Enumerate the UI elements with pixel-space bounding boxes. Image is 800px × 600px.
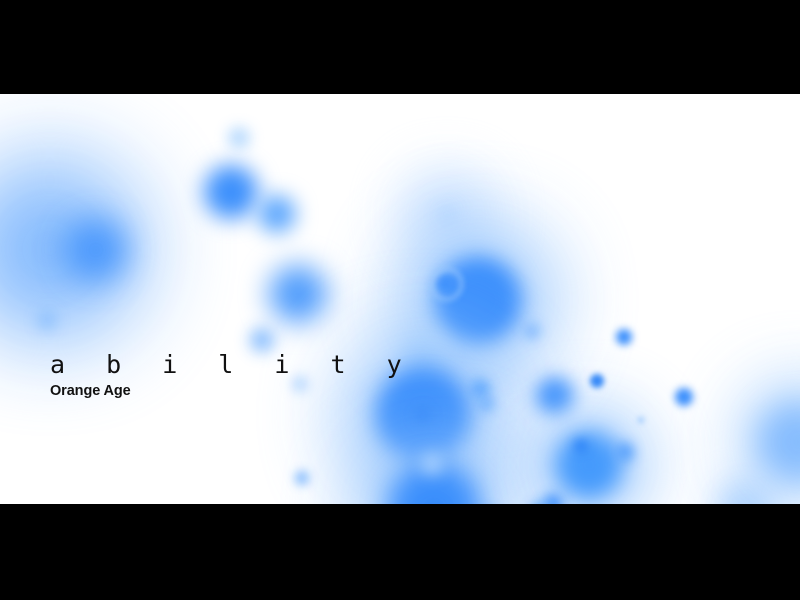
bokeh-core-right-lower <box>556 432 622 498</box>
letterbox-bar-bottom <box>0 504 800 600</box>
bokeh-circle-upper-a <box>204 165 258 219</box>
artwork-area: a b i l i t y Orange Age <box>0 94 800 504</box>
bokeh-circle-right-mid <box>536 377 574 415</box>
bokeh-dot-pair-b <box>478 396 494 412</box>
bokeh-dot-right-a <box>616 329 632 345</box>
bokeh-dot-upper-c <box>228 127 250 149</box>
video-still-canvas: a b i l i t y Orange Age <box>0 0 800 600</box>
bokeh-dot-right-b <box>590 374 604 388</box>
bokeh-circle-mid-left <box>269 265 327 323</box>
bokeh-dot-top-faint <box>439 206 455 222</box>
bokeh-dot-right-c <box>675 388 693 406</box>
bokeh-core-left-inner <box>64 218 128 282</box>
bokeh-dot-center-lower <box>415 408 431 424</box>
bokeh-dot-mid-left-b <box>250 328 274 352</box>
bokeh-dot-on-right-low <box>574 439 588 453</box>
bokeh-dot-above-bottom <box>421 453 443 475</box>
bokeh-ring-on-big-upper <box>429 267 463 301</box>
bokeh-dot-left-small <box>37 310 57 330</box>
bokeh-dot-right-low-b <box>616 443 634 461</box>
artist-name: Orange Age <box>50 384 415 399</box>
track-title: a b i l i t y <box>50 352 415 377</box>
bokeh-circle-upper-b <box>258 195 296 233</box>
letterbox-bar-top <box>0 0 800 94</box>
title-block: a b i l i t y Orange Age <box>50 352 415 399</box>
bokeh-layer <box>0 94 800 504</box>
bokeh-dot-right-tiny <box>638 417 644 423</box>
bokeh-dot-right-of-big <box>524 323 540 339</box>
bokeh-dot-below-title <box>295 471 309 485</box>
